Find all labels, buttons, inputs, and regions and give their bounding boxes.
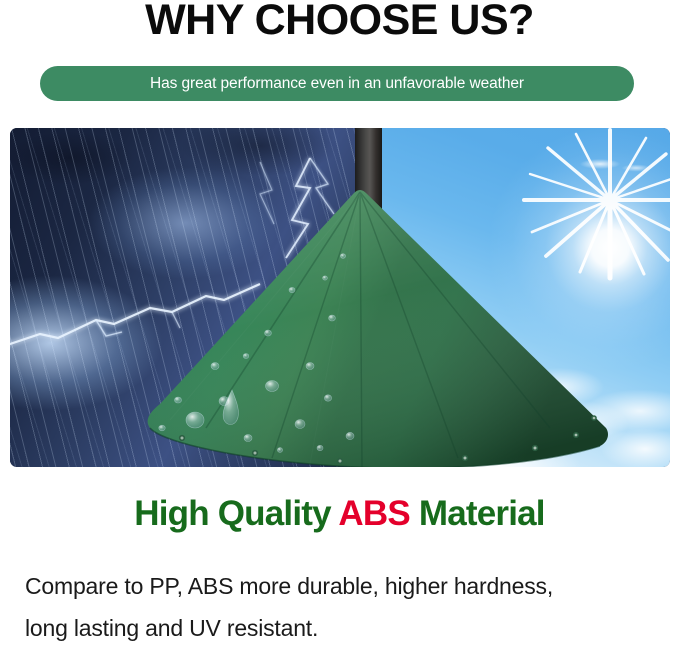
- product-title-part1: High Quality: [134, 494, 338, 533]
- product-title-part2: Material: [410, 494, 545, 533]
- description-line-2: long lasting and UV resistant.: [25, 607, 665, 649]
- cone-shading: [148, 190, 608, 467]
- product-description: Compare to PP, ABS more durable, higher …: [25, 565, 665, 649]
- abs-cone-baffle: [10, 128, 670, 467]
- hero-product-image: [10, 128, 670, 467]
- marketing-infographic: WHY CHOOSE US? Has great performance eve…: [0, 0, 679, 646]
- product-title-highlight: ABS: [338, 494, 410, 533]
- product-title: High Quality ABS Material: [0, 492, 679, 536]
- subtitle-banner: Has great performance even in an unfavor…: [40, 66, 634, 101]
- page-title: WHY CHOOSE US?: [0, 0, 679, 46]
- subtitle-banner-text: Has great performance even in an unfavor…: [150, 75, 524, 93]
- description-line-1: Compare to PP, ABS more durable, higher …: [25, 565, 665, 607]
